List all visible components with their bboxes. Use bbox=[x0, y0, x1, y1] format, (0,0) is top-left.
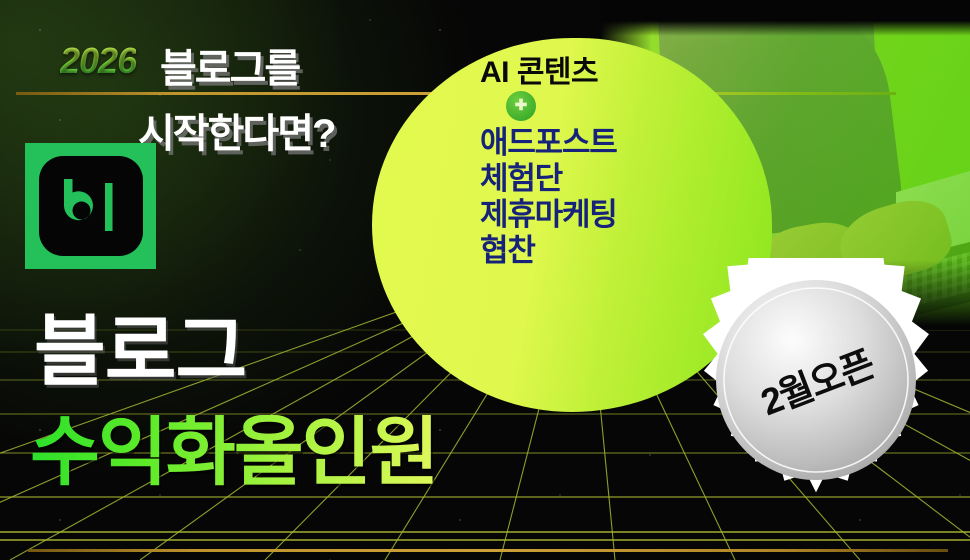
plus-circle-icon bbox=[506, 91, 536, 121]
blog-logo bbox=[25, 143, 156, 269]
plus-icon-wrapper bbox=[506, 91, 772, 121]
headline-line-1: 블로그를 bbox=[160, 36, 299, 94]
promo-banner: AI 콘텐츠 애드포스트 체험단 제휴마케팅 협찬 2026 블로그를 시작한다… bbox=[0, 0, 970, 560]
offer-benefit-2: 체험단 bbox=[480, 161, 772, 197]
open-date-seal: 2월오픈 bbox=[700, 258, 932, 502]
main-title: 블로그 bbox=[34, 313, 246, 389]
offer-benefit-3: 제휴마케팅 bbox=[480, 197, 772, 233]
main-subtitle: 수익화올인원 bbox=[30, 415, 438, 491]
headline-line-2: 시작한다면? bbox=[138, 101, 334, 159]
gold-divider-bottom bbox=[28, 549, 948, 552]
offer-title: AI 콘텐츠 bbox=[480, 58, 772, 88]
photo-top-fade bbox=[600, 0, 970, 36]
offer-benefit-1: 애드포스트 bbox=[480, 125, 772, 161]
bl-letter-icon bbox=[60, 177, 122, 235]
year-badge: 2026 bbox=[60, 40, 136, 82]
blog-logo-inner bbox=[39, 156, 143, 256]
